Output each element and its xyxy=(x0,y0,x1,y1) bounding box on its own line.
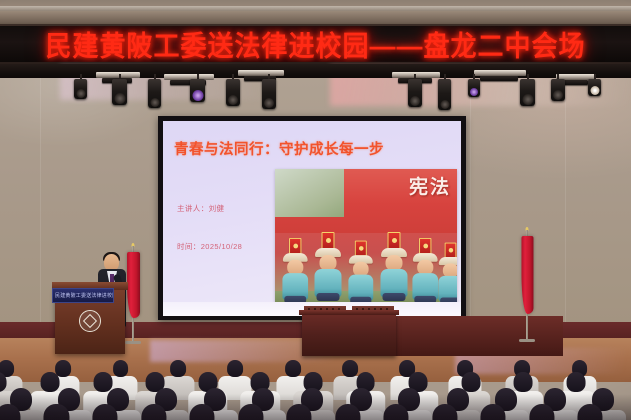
photo-child-legs xyxy=(317,293,340,301)
slide-presenter: 主讲人：刘健 xyxy=(177,203,224,214)
led-banner-text: 民建黄陂工委送法律进校园——盘龙二中会场 xyxy=(45,24,585,63)
wall-seam xyxy=(40,66,41,322)
stage-light-fixture xyxy=(190,74,205,103)
audience-head xyxy=(335,404,360,420)
light-lens-icon xyxy=(192,90,203,101)
photo-child-legs xyxy=(383,293,406,301)
light-lens-icon xyxy=(470,88,478,96)
photo-child xyxy=(347,245,375,294)
slide-photo: 宪法 xyxy=(275,169,457,309)
audience-person xyxy=(0,404,34,420)
truss-bar-light xyxy=(562,80,588,85)
light-body xyxy=(226,79,240,106)
photo-child xyxy=(437,247,457,294)
slide-date: 时间：2025/10/28 xyxy=(177,241,242,252)
light-lens-icon xyxy=(76,89,85,98)
stage-light-fixture xyxy=(112,74,127,106)
flag-cloth xyxy=(521,236,533,314)
audience-head xyxy=(432,404,457,420)
audience-person xyxy=(79,404,131,420)
led-banner: 民建黄陂工委送法律进校园——盘龙二中会场 xyxy=(0,24,631,64)
photo-child-book xyxy=(322,232,335,249)
audience-person xyxy=(30,404,82,420)
audience-head xyxy=(287,404,312,420)
audience-person xyxy=(467,404,519,420)
ceiling-rail xyxy=(0,6,631,11)
light-body xyxy=(262,79,276,109)
lectern-display-text: 民建黄陂工委送法律进校园 xyxy=(55,292,114,299)
photo-child-book xyxy=(355,241,367,257)
light-body xyxy=(148,79,161,108)
stage-light-fixture xyxy=(74,74,87,100)
light-lens-icon xyxy=(114,93,125,104)
stage-light-fixture xyxy=(148,74,161,109)
light-body xyxy=(112,79,127,105)
wall-seam xyxy=(470,66,471,322)
stage-light-fixture xyxy=(551,74,565,102)
projection-screen: 青春与法同行：守护成长每一步 主讲人：刘健 时间：2025/10/28 宪法 xyxy=(163,121,461,316)
light-body xyxy=(408,79,422,107)
stage-light-fixture xyxy=(468,74,480,98)
school-emblem-icon xyxy=(79,310,101,332)
truss-bar-light xyxy=(480,76,518,81)
audience-person xyxy=(224,404,276,420)
stage-light-fixture xyxy=(588,74,601,97)
audience-head xyxy=(44,404,69,420)
stage-light-fixture xyxy=(226,74,240,107)
light-lens-icon xyxy=(228,95,238,105)
audience-head xyxy=(141,404,166,420)
light-body xyxy=(588,79,601,96)
stage-light-fixture xyxy=(438,74,451,111)
photo-background-sky xyxy=(275,169,344,217)
photo-banner-text: 宪法 xyxy=(409,172,451,199)
audience-person xyxy=(176,404,228,420)
audience-person xyxy=(273,404,325,420)
light-body xyxy=(520,79,535,106)
photo-child xyxy=(379,236,409,294)
audience-head xyxy=(238,404,263,420)
light-body xyxy=(74,79,87,99)
light-body xyxy=(438,79,451,110)
stage-light-fixture xyxy=(520,74,535,107)
light-body xyxy=(551,79,565,101)
audience-head xyxy=(92,404,117,420)
projection-screen-frame: 青春与法同行：守护成长每一步 主讲人：刘健 时间：2025/10/28 宪法 xyxy=(158,116,466,320)
audience-head xyxy=(384,404,409,420)
audience-head xyxy=(190,404,215,420)
lectern-display: 民建黄陂工委送法律进校园 xyxy=(52,288,114,303)
photo-child xyxy=(411,241,440,293)
photo-child-book xyxy=(419,237,431,253)
audience-person xyxy=(370,404,422,420)
light-lens-icon xyxy=(590,86,599,95)
audience-row xyxy=(0,402,631,420)
light-lens-icon xyxy=(522,94,533,105)
light-lens-icon xyxy=(440,100,449,109)
light-lens-icon xyxy=(264,98,274,108)
audience-head xyxy=(578,404,603,420)
wall-seam xyxy=(565,66,566,322)
light-body xyxy=(190,79,205,102)
photo-child xyxy=(281,241,310,293)
audience-head xyxy=(529,404,554,420)
stage-light-fixture xyxy=(262,74,276,110)
audience-person xyxy=(127,404,179,420)
slide-title: 青春与法同行：守护成长每一步 xyxy=(174,138,384,159)
audience-person xyxy=(516,404,568,420)
photo-child-book xyxy=(289,237,301,253)
light-lens-icon xyxy=(553,90,563,100)
lighting-truss xyxy=(0,64,631,78)
stage-light-fixture xyxy=(408,74,422,108)
light-body xyxy=(468,79,480,97)
auditorium-scene: 民建黄陂工委送法律进校园——盘龙二中会场 青春与法同行：守护成长每一步 主讲人：… xyxy=(0,0,631,420)
audience-person xyxy=(322,404,374,420)
audience-head xyxy=(481,404,506,420)
audience-head xyxy=(0,404,20,420)
flag-base xyxy=(519,339,535,342)
photo-child xyxy=(313,236,343,294)
photo-child-book xyxy=(388,232,401,249)
flag-right xyxy=(518,230,536,342)
light-lens-icon xyxy=(150,98,159,107)
stage-cabinet xyxy=(302,314,396,356)
audience-area xyxy=(0,352,631,420)
light-lens-icon xyxy=(410,96,420,106)
audience-person xyxy=(419,404,471,420)
audience-person xyxy=(564,404,616,420)
